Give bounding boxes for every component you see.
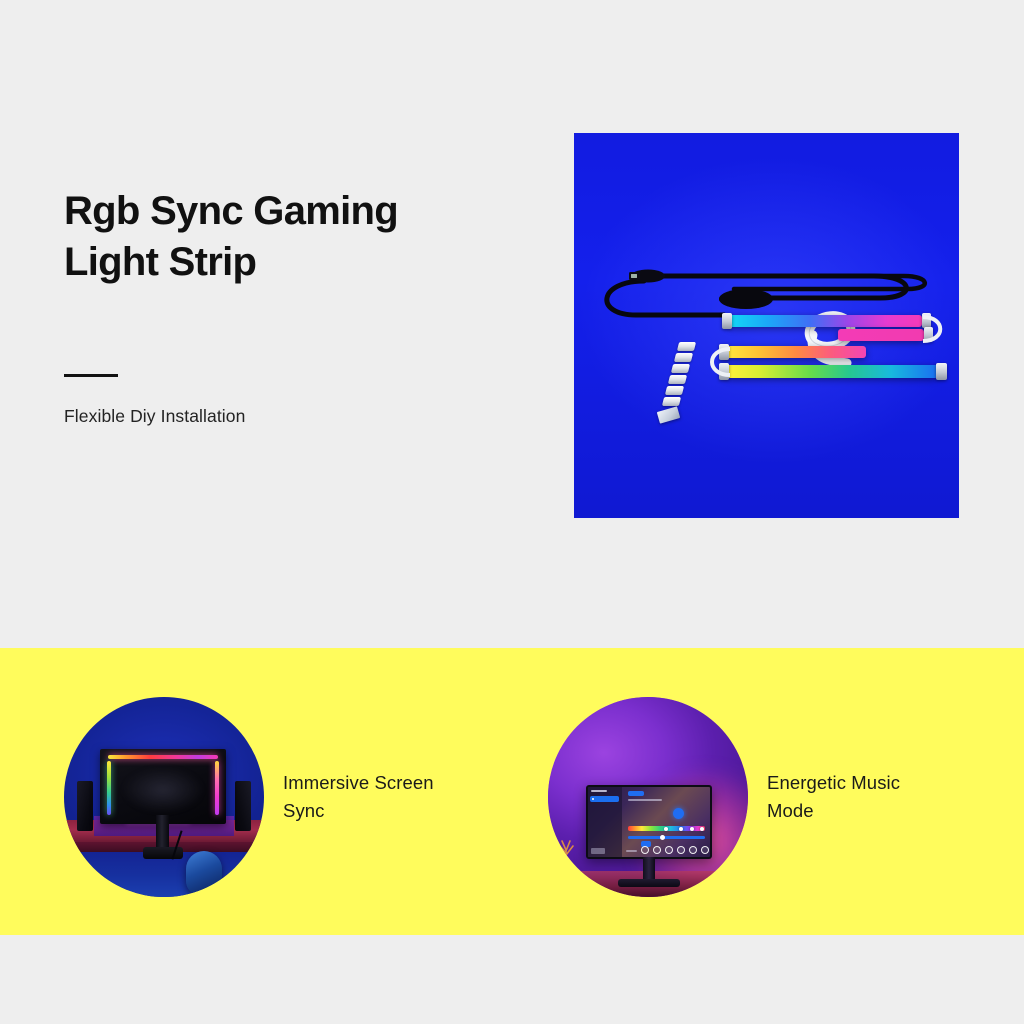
app-footer-text — [591, 848, 605, 854]
gaming-mouse — [186, 851, 222, 895]
product-marketing-page: Rgb Sync Gaming Light Strip Flexible Diy… — [0, 0, 1024, 1024]
brightness-slider-knob[interactable] — [660, 835, 665, 840]
mode-badge[interactable] — [628, 791, 644, 796]
feature-immersive-screen-sync: Immersive Screen Sync — [64, 697, 483, 897]
strip-end-cap — [936, 363, 947, 380]
preset-row-label — [626, 850, 637, 852]
monitor-stand-neck — [156, 815, 169, 851]
mounting-clip — [665, 386, 684, 395]
monitor-screen — [588, 787, 710, 857]
monitor — [586, 785, 712, 859]
preset-button[interactable] — [701, 846, 709, 854]
preset-button[interactable] — [641, 846, 649, 854]
monitor-stand-base — [618, 879, 680, 887]
monitor-glow — [122, 767, 204, 813]
rgb-strip-left — [107, 761, 111, 815]
preset-button[interactable] — [665, 846, 673, 854]
monitor-stand-base — [143, 847, 183, 859]
spectrum-marker[interactable] — [679, 827, 683, 831]
monitor-rear — [100, 749, 226, 824]
strip-u-bend-left — [702, 341, 734, 383]
mounting-clip — [662, 397, 681, 406]
hero-text-block: Rgb Sync Gaming Light Strip Flexible Diy… — [64, 186, 534, 427]
preset-button[interactable] — [689, 846, 697, 854]
wall-wash-scene — [548, 697, 748, 897]
light-strip-warm — [726, 346, 866, 358]
preset-button[interactable] — [677, 846, 685, 854]
mounting-clip — [671, 364, 690, 373]
mounting-clip — [677, 342, 696, 351]
rgb-strip-top — [108, 755, 218, 759]
sidebar-device-item[interactable] — [590, 796, 619, 802]
mounting-clip — [668, 375, 687, 384]
feature-energetic-music-mode: Energetic Music Mode — [548, 697, 967, 897]
strip-u-bend-right — [918, 309, 954, 349]
product-photo — [574, 133, 959, 518]
app-logo — [591, 790, 607, 792]
title-divider — [64, 374, 118, 377]
speaker-left — [77, 781, 93, 831]
spectrum-marker[interactable] — [664, 827, 668, 831]
feature-image-music-mode — [548, 697, 748, 897]
power-toggle-button[interactable] — [673, 808, 684, 819]
device-status-dot — [592, 798, 594, 800]
speaker-right — [235, 781, 251, 831]
feature-image-screen-sync — [64, 697, 264, 897]
light-strip-upper — [729, 315, 922, 327]
app-meta-text — [628, 799, 662, 801]
brightness-slider[interactable] — [628, 836, 705, 839]
feature-band: Immersive Screen Sync — [0, 648, 1024, 935]
strip-end-cap — [722, 313, 732, 329]
rgb-strip-right — [215, 761, 219, 815]
desk-setup-scene — [64, 697, 264, 897]
light-strip-magenta — [838, 329, 924, 341]
light-strip-lower — [726, 365, 938, 378]
feature-label-screen-sync: Immersive Screen Sync — [283, 769, 483, 825]
spectrum-marker[interactable] — [700, 827, 704, 831]
page-title: Rgb Sync Gaming Light Strip — [64, 186, 534, 288]
feature-label-music-mode: Energetic Music Mode — [767, 769, 967, 825]
monitor-stand-neck — [643, 857, 655, 881]
hero-subtitle: Flexible Diy Installation — [64, 406, 534, 427]
spectrum-marker[interactable] — [690, 827, 694, 831]
mounting-clip — [674, 353, 693, 362]
plant-icon — [554, 837, 578, 871]
preset-button[interactable] — [653, 846, 661, 854]
